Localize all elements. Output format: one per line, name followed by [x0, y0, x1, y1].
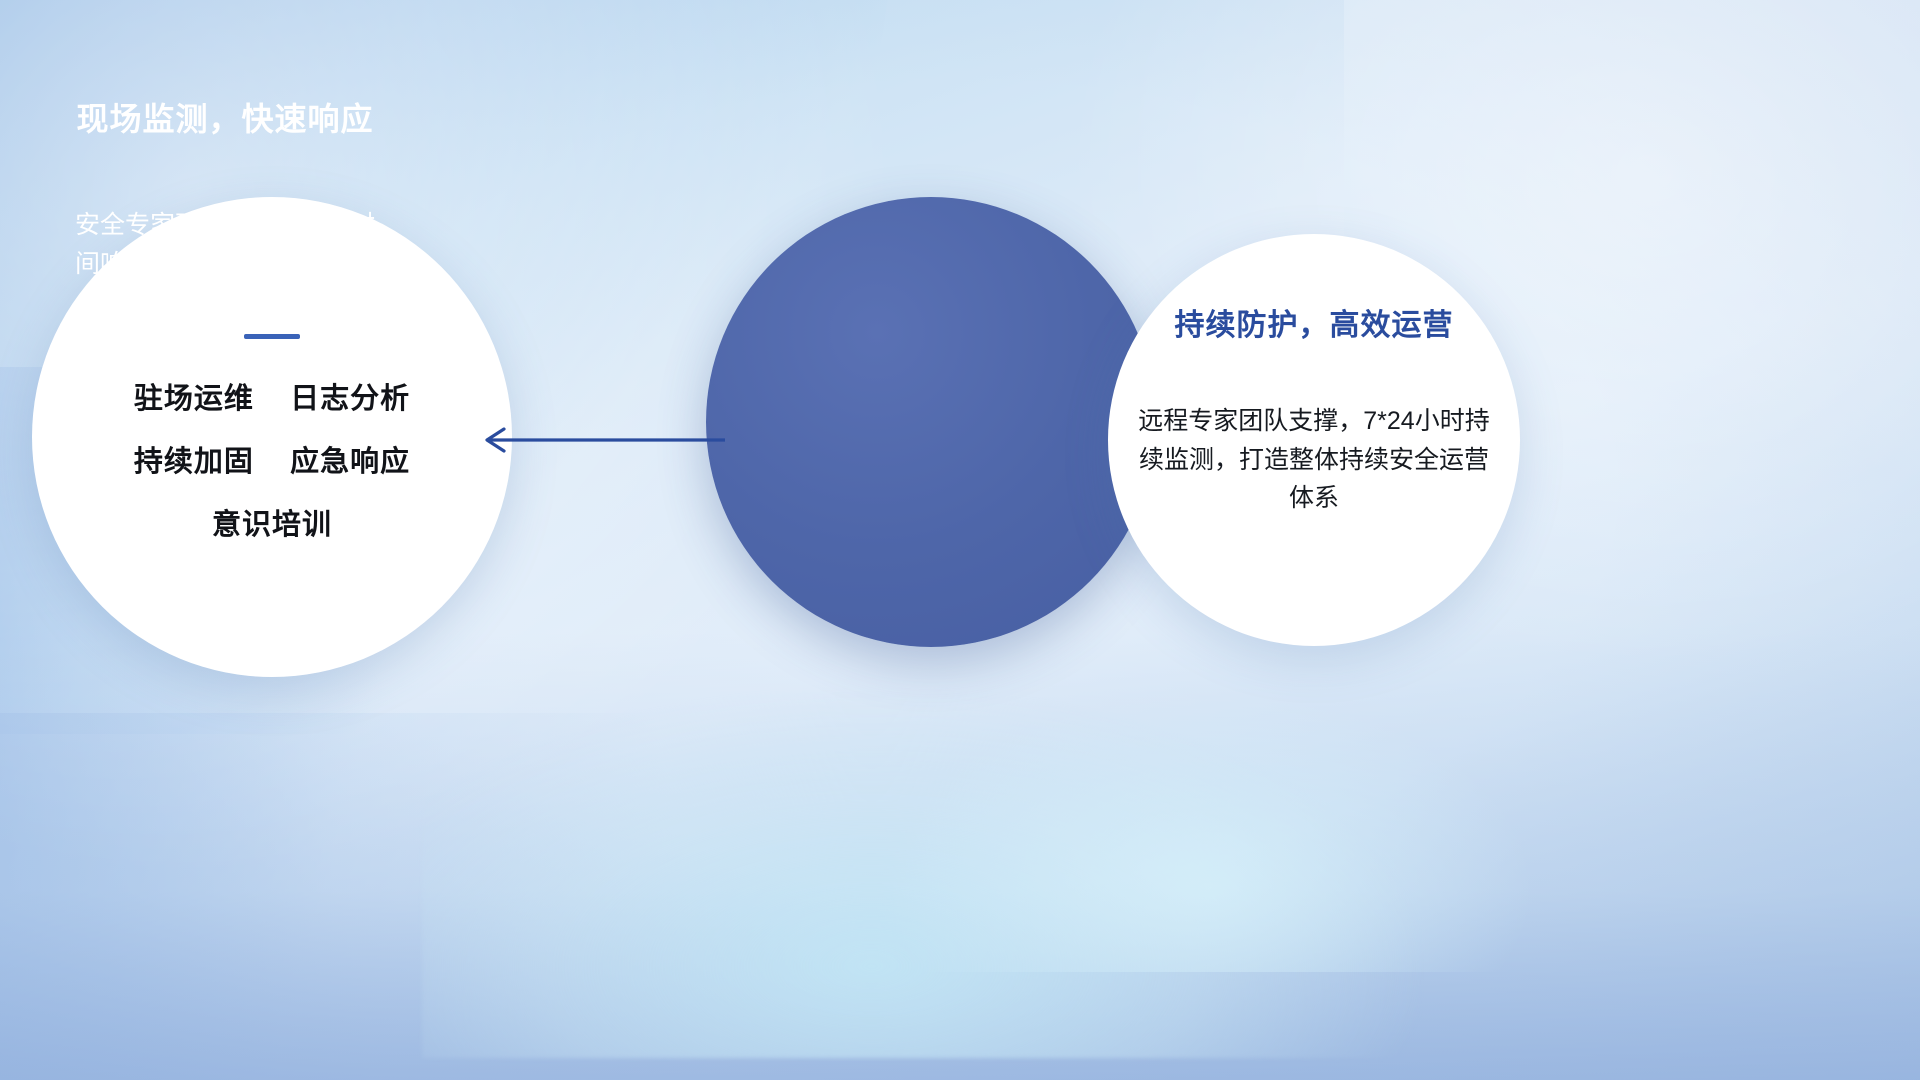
node-middle-title: 现场监测，快速响应: [76, 94, 373, 140]
keyword-line-2: 持续加固 应急响应: [134, 448, 410, 477]
keyword-line-3: 意识培训: [212, 511, 332, 540]
diagram-canvas: 驻场运维 日志分析 持续加固 应急响应 意识培训 现场监测，快速响应 安全专家现…: [0, 0, 1920, 1080]
connector-arrow-icon: [470, 410, 730, 470]
node-right-title: 持续防护，高效运营: [1175, 300, 1454, 344]
node-right-body: 远程专家团队支撑，7*24小时持续监测，打造整体持续安全运营体系: [1138, 402, 1490, 518]
node-middle-content: 现场监测，快速响应 安全专家现场保障，最短时间响应突发网络安全事件，将服务效率最…: [0, 0, 450, 450]
node-middle-blue-circle[interactable]: [706, 197, 1156, 647]
node-middle-body: 安全专家现场保障，最短时间响应突发网络安全事件，将服务效率最大化: [75, 206, 375, 322]
node-right-white-circle[interactable]: 持续防护，高效运营 远程专家团队支撑，7*24小时持续监测，打造整体持续安全运营…: [1108, 234, 1520, 646]
